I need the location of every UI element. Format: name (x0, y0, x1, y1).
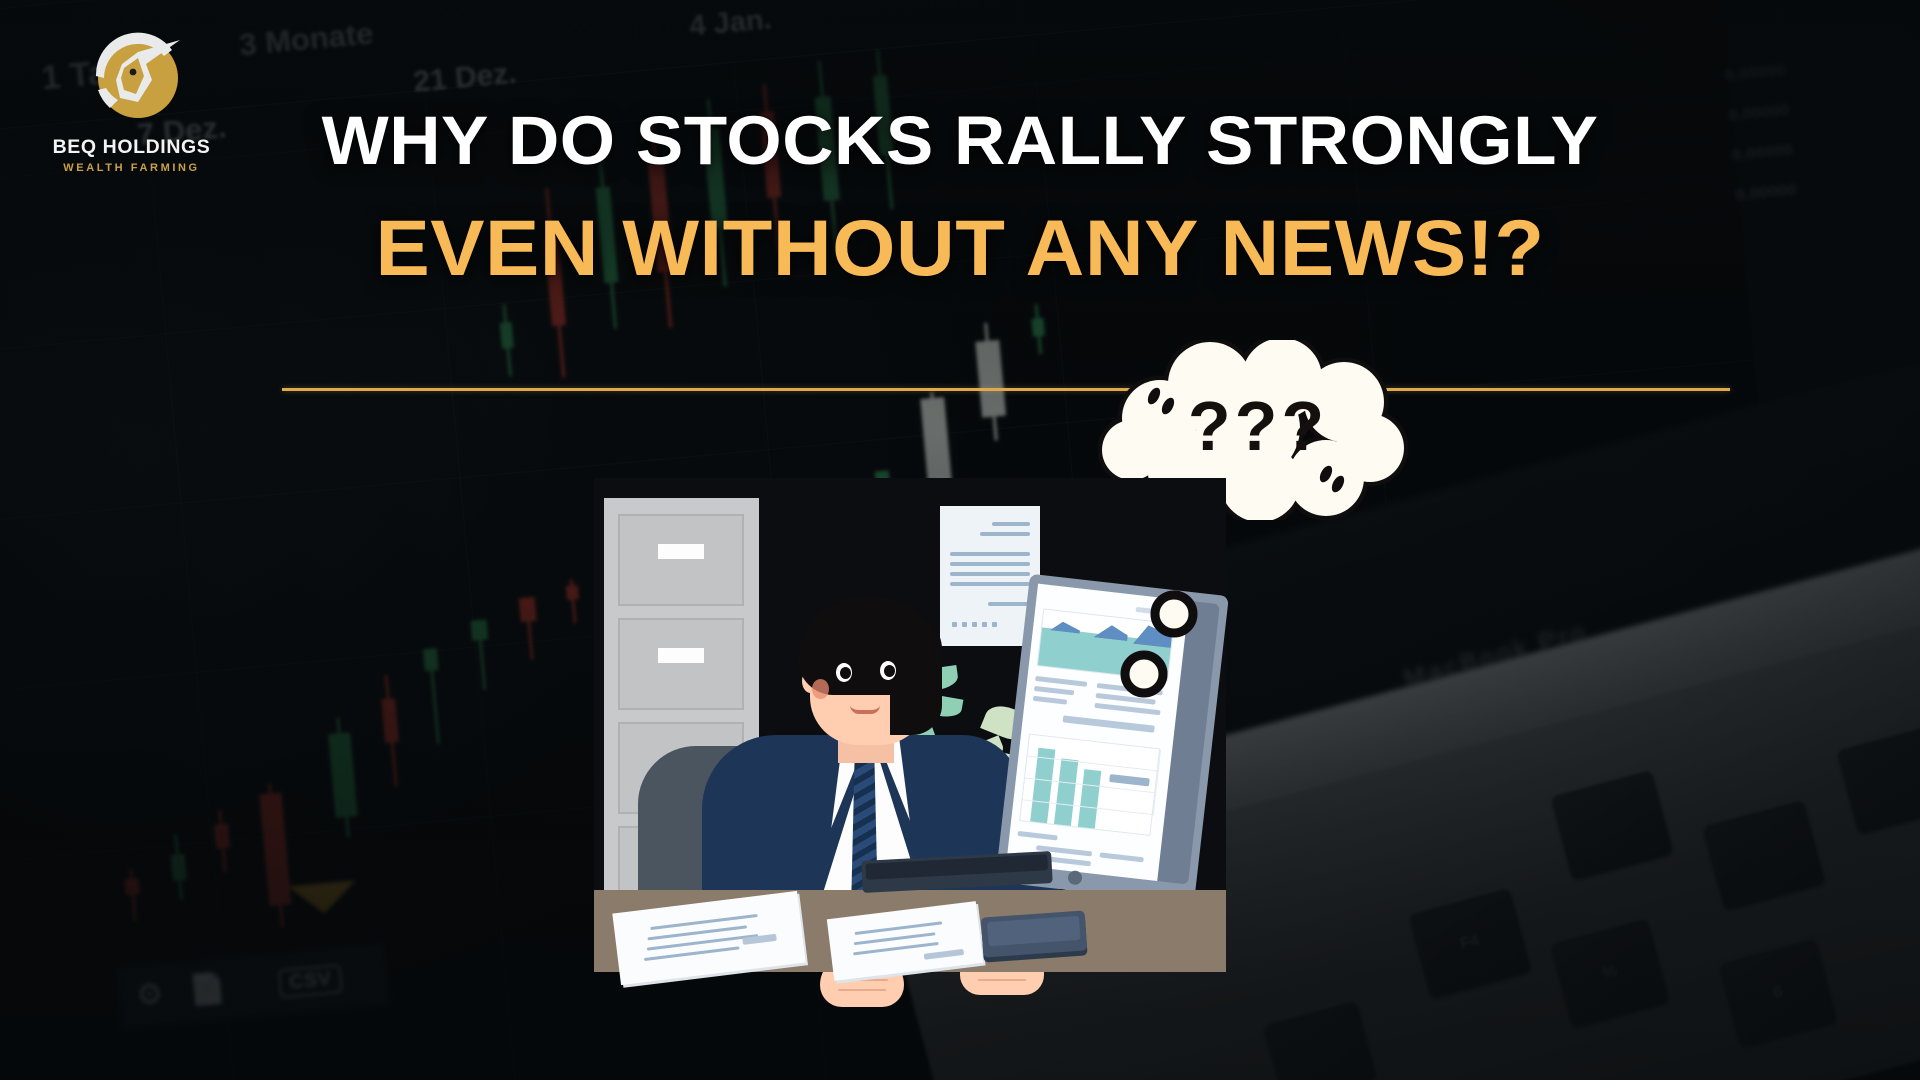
cursor-marker-icon (1146, 588, 1210, 652)
headline-line-2: EVEN WITHOUT ANY NEWS!? (0, 207, 1920, 289)
bar-chart (1019, 734, 1160, 836)
headline-divider (282, 388, 1730, 391)
poster-canvas: 1 Tag 3 Monate 7 Dez. 21 Dez. 4 Jan. (0, 0, 1920, 1080)
businessman-at-desk-illustration (594, 478, 1226, 972)
cursor-marker-icon (1116, 648, 1180, 712)
headline-line-1: WHY DO STOCKS RALLY STRONGLY (0, 104, 1920, 177)
headline-block: WHY DO STOCKS RALLY STRONGLY EVEN WITHOU… (0, 104, 1920, 289)
smartphone[interactable] (981, 910, 1088, 957)
